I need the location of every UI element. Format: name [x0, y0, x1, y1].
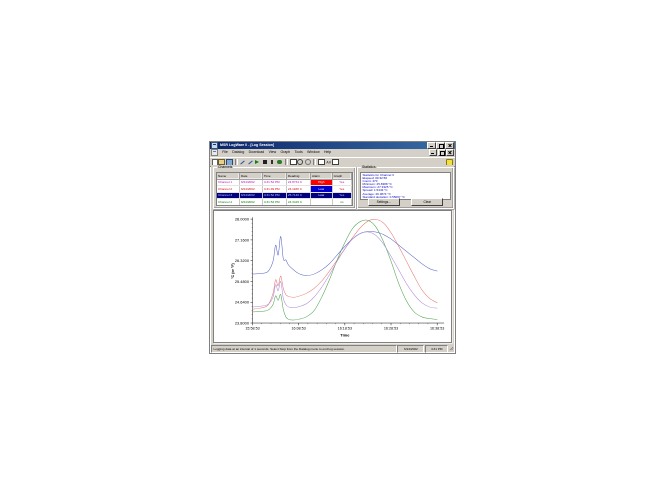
statistics-panel: Statistics Statistics for Channel 3 Elap… — [357, 167, 454, 209]
cell-alarm: High — [310, 179, 332, 186]
temperature-chart: 28.000027.160026.320025.480024.640023.80… — [214, 211, 451, 342]
cell-date: 6/24/2002 — [239, 186, 262, 193]
resize-grip-icon[interactable] — [449, 346, 454, 351]
cell-name: Channel 3 — [217, 192, 239, 199]
svg-text:°C (or °F): °C (or °F) — [231, 263, 235, 279]
svg-text:24.6400: 24.6400 — [235, 301, 249, 305]
cell-time: 4:31:54 PM — [262, 179, 286, 186]
cell-reading: 24.1180 C — [286, 186, 310, 193]
cell-alarm: Low — [310, 192, 332, 199]
cell-date: 6/24/2002 — [239, 179, 262, 186]
channels-panel-label: Channels — [217, 165, 233, 169]
status-date: 6/24/2002 — [397, 345, 424, 353]
cell-time: 4:31:53 PM — [262, 199, 286, 206]
channels-table: Name Date Time Reading Alarm Graph Chann… — [217, 173, 352, 206]
client-area: Channels Name Date Time Reading Alarm Gr… — [211, 165, 454, 345]
menu-item-help[interactable]: Help — [322, 149, 334, 156]
channels-panel: Channels Name Date Time Reading Alarm Gr… — [213, 167, 356, 209]
application-window: MSR LogWare II - [Log Session] File Data… — [209, 141, 456, 354]
clear-button[interactable]: Clear — [411, 198, 443, 207]
autoscale-glyph — [326, 160, 331, 164]
cell-time: 4:31:49 PM — [262, 186, 286, 193]
cell-graph: Yes — [332, 186, 351, 193]
table-row[interactable]: Channel 3 6/24/2002 4:31:52 PM 25.7140 C… — [217, 192, 352, 199]
settings-button[interactable]: Settings... — [368, 198, 400, 207]
cell-reading: 25.7140 C — [286, 192, 310, 199]
channels-table-container[interactable]: Name Date Time Reading Alarm Graph Chann… — [216, 172, 353, 206]
menu-bar: File Datalog Download View Graph Tools W… — [210, 149, 455, 157]
cell-alarm — [310, 199, 332, 206]
mdi-close-button[interactable] — [446, 149, 454, 157]
cell-time: 4:31:52 PM — [262, 192, 286, 199]
menu-item-tools[interactable]: Tools — [292, 149, 305, 156]
cell-alarm: Low — [310, 186, 332, 193]
svg-text:25.4800: 25.4800 — [235, 280, 249, 284]
svg-text:Time: Time — [340, 334, 349, 338]
svg-text:15:58:53: 15:58:53 — [245, 326, 259, 330]
status-time: 4:31 PM — [425, 345, 448, 353]
menu-item-file[interactable]: File — [220, 149, 230, 156]
cell-graph: Yes — [332, 192, 351, 199]
menu-item-datalog[interactable]: Datalog — [230, 149, 246, 156]
table-row[interactable]: Channel 4 6/24/2002 4:31:53 PM 24.3415 C… — [217, 199, 352, 206]
cell-date: 6/24/2002 — [239, 199, 262, 206]
cell-reading: 24.3415 C — [286, 199, 310, 206]
screenshot-canvas: MSR LogWare II - [Log Session] File Data… — [0, 0, 660, 495]
status-bar: Logging data at an interval of 1 seconds… — [211, 345, 454, 352]
mdi-restore-button[interactable] — [438, 149, 446, 157]
mdi-child-controls — [429, 149, 455, 157]
menu-item-download[interactable]: Download — [246, 149, 266, 156]
cell-reading: 24.8731 C — [286, 179, 310, 186]
menu-item-window[interactable]: Window — [305, 149, 322, 156]
mdi-minimize-button[interactable] — [429, 149, 437, 157]
svg-text:27.1600: 27.1600 — [235, 238, 249, 242]
cell-graph: Yes — [332, 179, 351, 186]
statistics-panel-label: Statistics — [361, 165, 377, 169]
svg-text:23.8000: 23.8000 — [235, 322, 249, 326]
cell-graph: no — [332, 199, 351, 206]
cell-name: Channel 2 — [217, 186, 239, 193]
mdi-document-icon[interactable] — [211, 149, 218, 156]
status-message: Logging data at an interval of 1 seconds… — [211, 345, 397, 353]
svg-text:16:38:53: 16:38:53 — [430, 326, 444, 330]
menu-item-view[interactable]: View — [266, 149, 278, 156]
table-row[interactable]: Channel 1 6/24/2002 4:31:54 PM 24.8731 C… — [217, 179, 352, 186]
svg-text:26.3200: 26.3200 — [235, 259, 249, 263]
cell-name: Channel 1 — [217, 179, 239, 186]
statistics-buttons: Settings... Clear — [362, 198, 449, 207]
menu-item-graph[interactable]: Graph — [278, 149, 292, 156]
app-icon — [211, 142, 218, 149]
cell-name: Channel 4 — [217, 199, 239, 206]
svg-text:28.0000: 28.0000 — [235, 218, 249, 222]
window-title: MSR LogWare II - [Log Session] — [220, 142, 427, 149]
svg-text:16:28:53: 16:28:53 — [384, 326, 398, 330]
cell-date: 6/24/2002 — [239, 192, 262, 199]
graph-panel[interactable]: 28.000027.160026.320025.480024.640023.80… — [213, 210, 452, 343]
statistics-text-box: Statistics for Channel 3 Elapsed: 00:32:… — [360, 172, 451, 200]
title-bar: MSR LogWare II - [Log Session] — [210, 142, 455, 149]
table-row[interactable]: Channel 2 6/24/2002 4:31:49 PM 24.1180 C… — [217, 186, 352, 193]
svg-text:16:08:53: 16:08:53 — [292, 326, 306, 330]
svg-text:16:18:53: 16:18:53 — [338, 326, 352, 330]
